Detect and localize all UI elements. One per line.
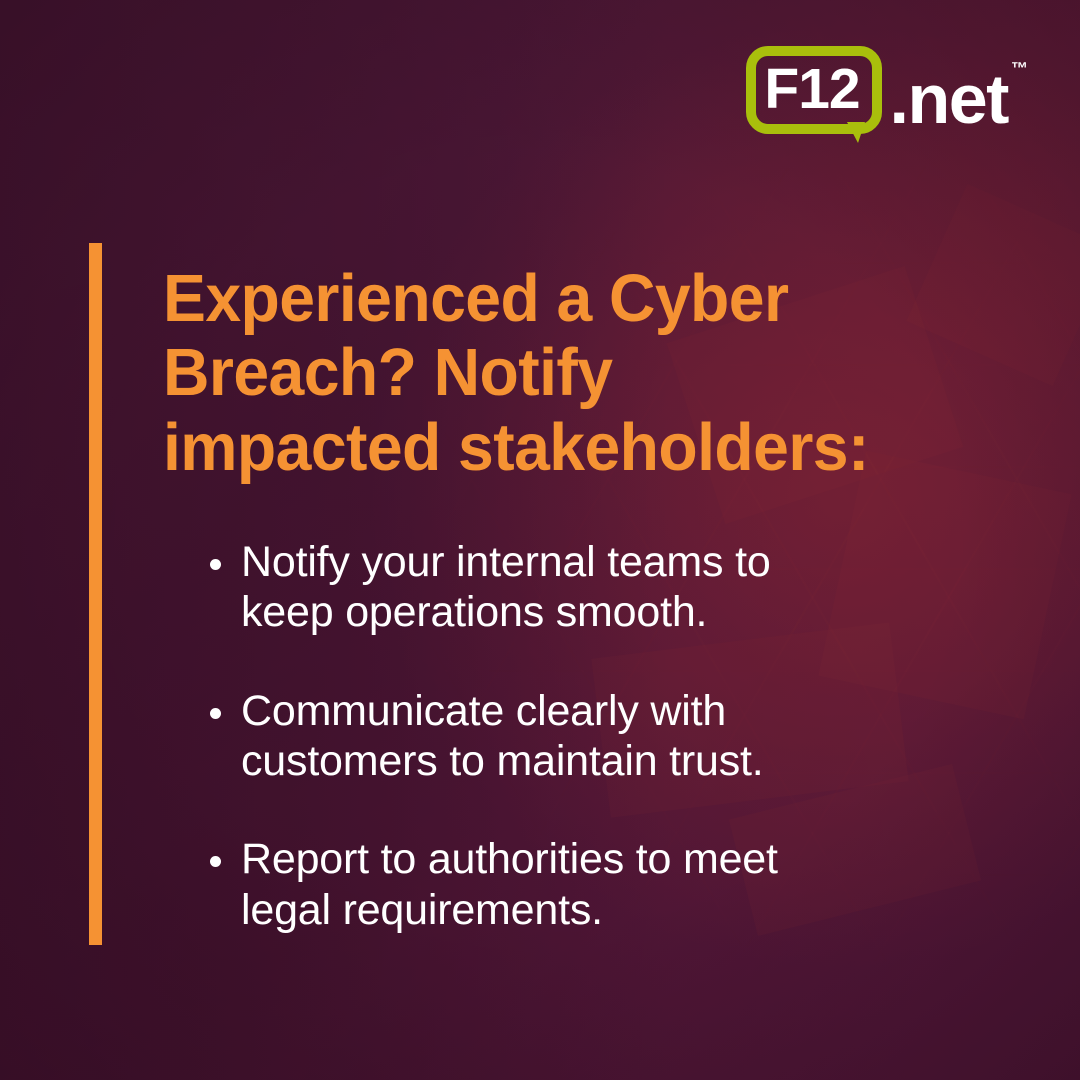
- vertical-accent-bar: [89, 243, 102, 945]
- list-item: Notify your internal teams to keep opera…: [163, 537, 843, 638]
- f12-speech-bubble-icon: F12: [746, 46, 888, 144]
- social-card-canvas: F12 .net ™ Experienced a Cyber Breach? N…: [0, 0, 1080, 1080]
- brand-logo[interactable]: F12 .net ™: [746, 46, 1028, 156]
- list-item: Communicate clearly with customers to ma…: [163, 686, 843, 787]
- list-item-label: Report to authorities to meet legal requ…: [241, 834, 843, 935]
- list-item: Report to authorities to meet legal requ…: [163, 834, 843, 935]
- bullet-dot-icon: [210, 856, 221, 867]
- bullet-dot-icon: [210, 708, 221, 719]
- page-title: Experienced a Cyber Breach? Notify impac…: [163, 262, 921, 485]
- list-item-label: Communicate clearly with customers to ma…: [241, 686, 843, 787]
- svg-text:F12: F12: [764, 57, 859, 121]
- content-block: Experienced a Cyber Breach? Notify impac…: [163, 262, 953, 935]
- bullet-list: Notify your internal teams to keep opera…: [163, 537, 843, 935]
- logo-net-text: .net: [890, 64, 1008, 134]
- trademark-symbol: ™: [1011, 60, 1028, 77]
- list-item-label: Notify your internal teams to keep opera…: [241, 537, 843, 638]
- logo-wordmark: .net ™: [890, 46, 1028, 134]
- bullet-dot-icon: [210, 559, 221, 570]
